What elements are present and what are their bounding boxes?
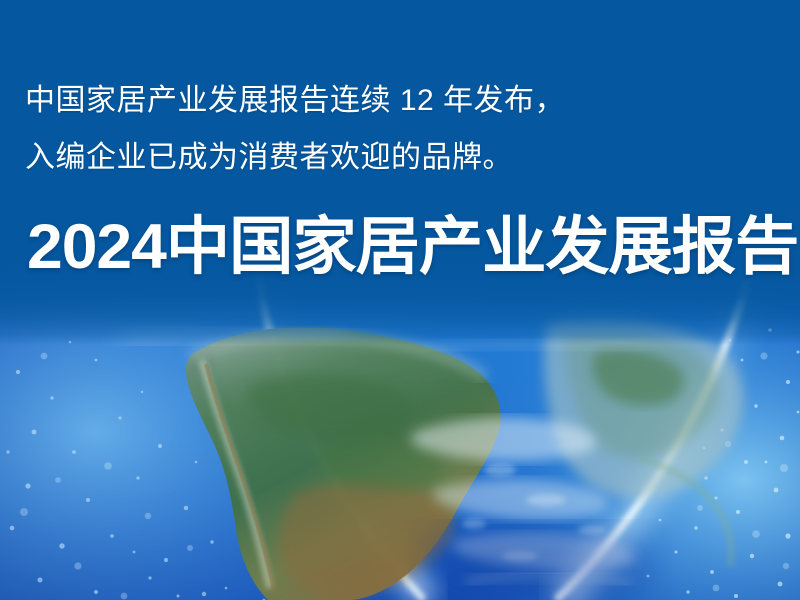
subtitle-line-1: 中国家居产业发展报告连续 12 年发布， — [25, 72, 785, 129]
subtitle-block: 中国家居产业发展报告连续 12 年发布， 入编企业已成为消费者欢迎的品牌。 — [25, 72, 785, 186]
subtitle-line-2: 入编企业已成为消费者欢迎的品牌。 — [25, 129, 785, 186]
poster-canvas: 中国家居产业发展报告连续 12 年发布， 入编企业已成为消费者欢迎的品牌。 20… — [0, 0, 800, 600]
headline-title: 2024中国家居产业发展报告 — [27, 208, 800, 286]
